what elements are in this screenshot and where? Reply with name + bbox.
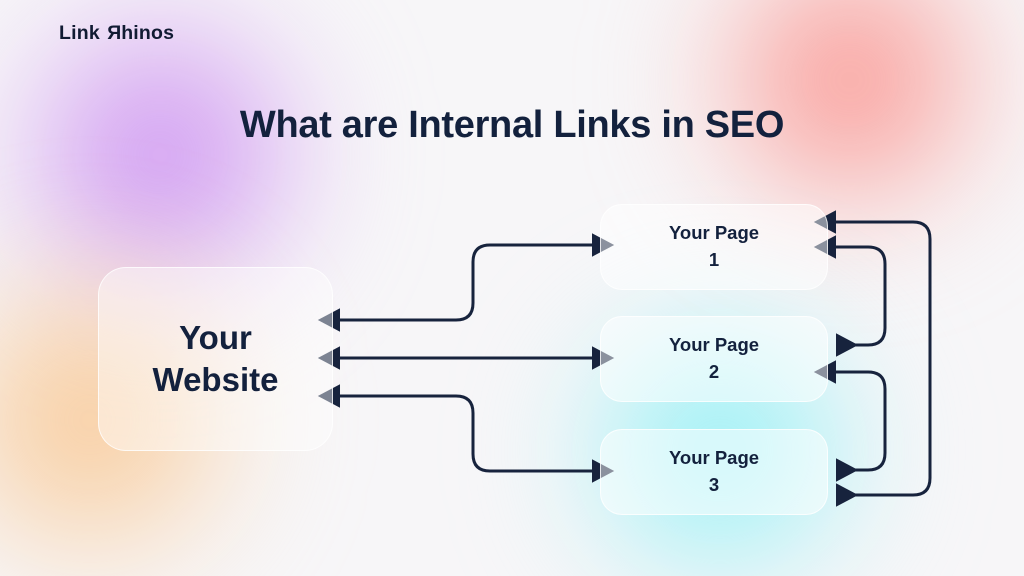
brand-logo[interactable]: Link R hinos [59,22,174,45]
connector-page1-page2 [836,247,885,345]
node-your-page-2[interactable]: Your Page 2 [600,316,828,402]
logo-text-left: Link [59,22,100,45]
node-your-page-1-line1: Your Page [669,220,759,247]
logo-text-right: hinos [121,22,174,45]
node-your-website[interactable]: Your Website [98,267,333,451]
node-your-page-3-label: Your Page 3 [669,445,759,499]
connector-page1-page3 [836,222,930,495]
node-your-page-3-line1: Your Page [669,445,759,472]
node-your-website-line1: Your [153,317,279,359]
node-your-page-1-label: Your Page 1 [669,220,759,274]
connector-website-page3 [340,396,592,471]
logo-reversed-r-icon: R [107,22,121,45]
connector-website-page1 [340,245,592,320]
node-your-page-3-line2: 3 [669,472,759,499]
node-your-page-3[interactable]: Your Page 3 [600,429,828,515]
page-title: What are Internal Links in SEO [0,104,1024,147]
node-your-page-1[interactable]: Your Page 1 [600,204,828,290]
infographic-canvas: Link R hinos What are Internal Links in … [0,0,1024,576]
connector-page2-page3 [836,372,885,470]
node-your-website-label: Your Website [153,317,279,401]
node-your-page-2-label: Your Page 2 [669,332,759,386]
node-your-page-2-line1: Your Page [669,332,759,359]
node-your-website-line2: Website [153,359,279,401]
node-your-page-2-line2: 2 [669,359,759,386]
node-your-page-1-line2: 1 [669,247,759,274]
